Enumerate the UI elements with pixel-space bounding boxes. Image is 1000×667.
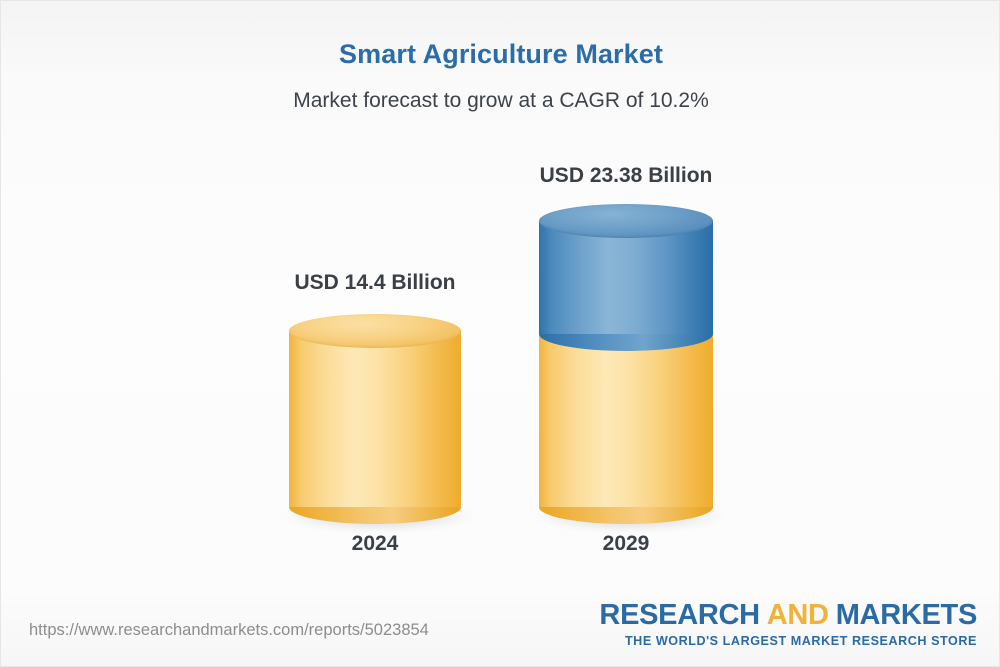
cylinder-body-base-2029 bbox=[539, 331, 713, 507]
cylinder-body-2024 bbox=[289, 331, 461, 507]
bar-segment-growth-2029 bbox=[539, 204, 713, 351]
plot-area: USD 14.4 Billion 2024 USD 23.38 Billion bbox=[1, 1, 1000, 601]
bar-cylinder-2029[interactable] bbox=[539, 204, 713, 514]
report-url[interactable]: https://www.researchandmarkets.com/repor… bbox=[29, 621, 429, 640]
bar-category-label-2029: 2029 bbox=[466, 532, 786, 556]
bar-cylinder-2024[interactable] bbox=[289, 314, 461, 514]
research-and-markets-logo[interactable]: RESEARCHANDMARKETS THE WORLD'S LARGEST M… bbox=[599, 601, 977, 648]
logo-word-and: AND bbox=[767, 599, 829, 631]
bar-value-label-2024: USD 14.4 Billion bbox=[215, 271, 535, 295]
chart-canvas: Smart Agriculture Market Market forecast… bbox=[0, 0, 1000, 667]
logo-word-research: RESEARCH bbox=[599, 599, 759, 631]
logo-tagline: THE WORLD'S LARGEST MARKET RESEARCH STOR… bbox=[599, 635, 977, 648]
logo-word-markets: MARKETS bbox=[836, 599, 977, 631]
growth-top-ellipse-2029 bbox=[539, 204, 713, 238]
bar-segment-base-2024 bbox=[289, 314, 461, 514]
cylinder-top-ellipse-2024 bbox=[289, 314, 461, 348]
bar-value-label-2029: USD 23.38 Billion bbox=[466, 164, 786, 188]
logo-wordmark: RESEARCHANDMARKETS bbox=[599, 601, 977, 630]
